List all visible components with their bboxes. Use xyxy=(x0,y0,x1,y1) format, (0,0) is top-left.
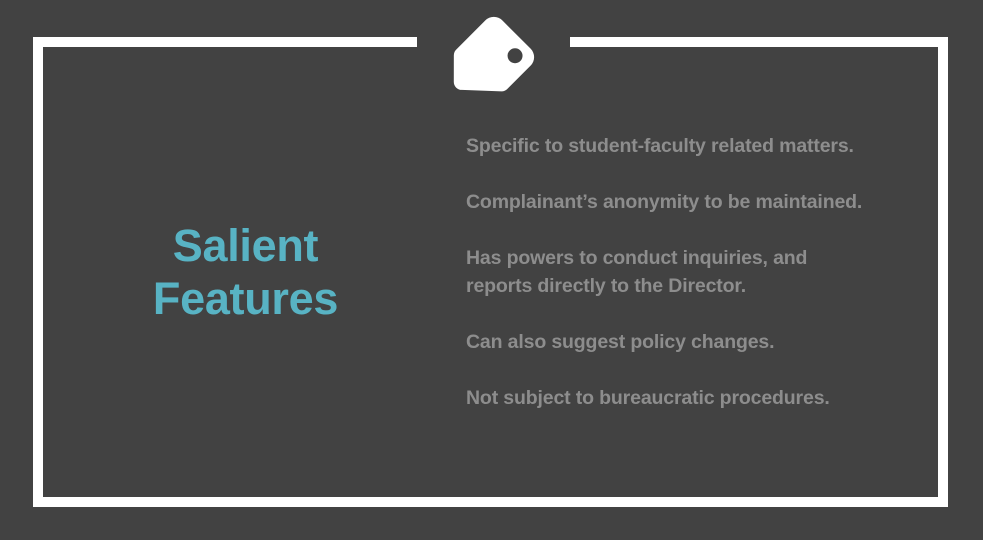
frame-border-bottom xyxy=(33,497,948,507)
bullet-list: Specific to student-faculty related matt… xyxy=(458,132,938,412)
frame-border-top-right xyxy=(570,37,948,47)
page-title: SalientFeatures xyxy=(153,219,338,325)
list-item: Can also suggest policy changes. xyxy=(466,328,866,356)
slide-content: SalientFeatures Specific to student-facu… xyxy=(43,47,938,497)
list-item: Specific to student-faculty related matt… xyxy=(466,132,866,160)
title-column: SalientFeatures xyxy=(43,219,458,325)
page-title-line-1: Salient xyxy=(173,220,318,271)
list-item: Not subject to bureaucratic procedures. xyxy=(466,384,866,412)
frame-border-right xyxy=(938,37,948,507)
list-item: Complainant’s anonymity to be maintained… xyxy=(466,188,866,216)
frame-border-left xyxy=(33,37,43,507)
frame-border-top-left xyxy=(33,37,417,47)
slide-canvas: SalientFeatures Specific to student-facu… xyxy=(0,0,983,540)
page-title-line-2: Features xyxy=(153,273,338,324)
list-item: Has powers to conduct inquiries, and rep… xyxy=(466,244,866,300)
